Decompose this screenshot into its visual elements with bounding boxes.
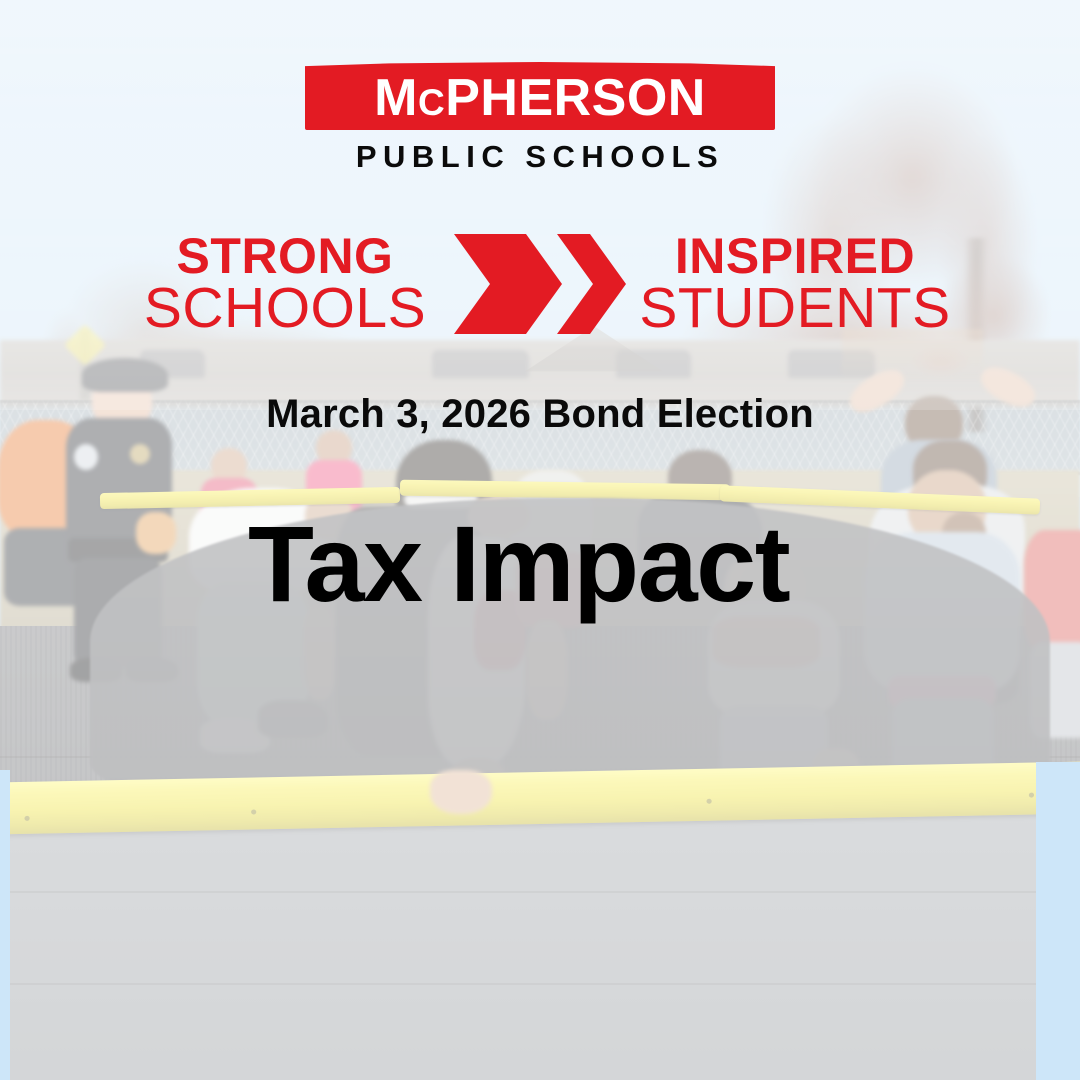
tagline-inspired: INSPIRED bbox=[630, 232, 960, 280]
tagline-schools: SCHOOLS bbox=[120, 280, 450, 337]
tagline-left: STRONG SCHOOLS bbox=[120, 232, 450, 337]
slide-content: MCPHERSON PUBLIC SCHOOLS STRONG SCHOOLS … bbox=[0, 0, 1080, 1080]
chevron-arrow-icon bbox=[450, 230, 630, 338]
logo-wordmark-rest: PHERSON bbox=[445, 69, 706, 127]
logo-subtitle: PUBLIC SCHOOLS bbox=[305, 139, 775, 175]
logo-wordmark-c: C bbox=[418, 82, 445, 123]
page-title: Tax Impact bbox=[248, 510, 789, 618]
logo-wordmark-m: M bbox=[374, 69, 418, 127]
mcpherson-logo: MCPHERSON PUBLIC SCHOOLS bbox=[305, 62, 775, 175]
logo-red-banner: MCPHERSON bbox=[305, 62, 775, 130]
bond-election-tax-impact-slide: MCPHERSON PUBLIC SCHOOLS STRONG SCHOOLS … bbox=[0, 0, 1080, 1080]
election-date-line: March 3, 2026 Bond Election bbox=[266, 392, 814, 437]
tagline-right: INSPIRED STUDENTS bbox=[630, 232, 960, 337]
logo-wordmark: MCPHERSON bbox=[374, 72, 706, 124]
tagline-students: STUDENTS bbox=[630, 280, 960, 337]
tagline-strong: STRONG bbox=[120, 232, 450, 280]
campaign-tagline: STRONG SCHOOLS INSPIRED STUDENTS bbox=[90, 230, 990, 338]
